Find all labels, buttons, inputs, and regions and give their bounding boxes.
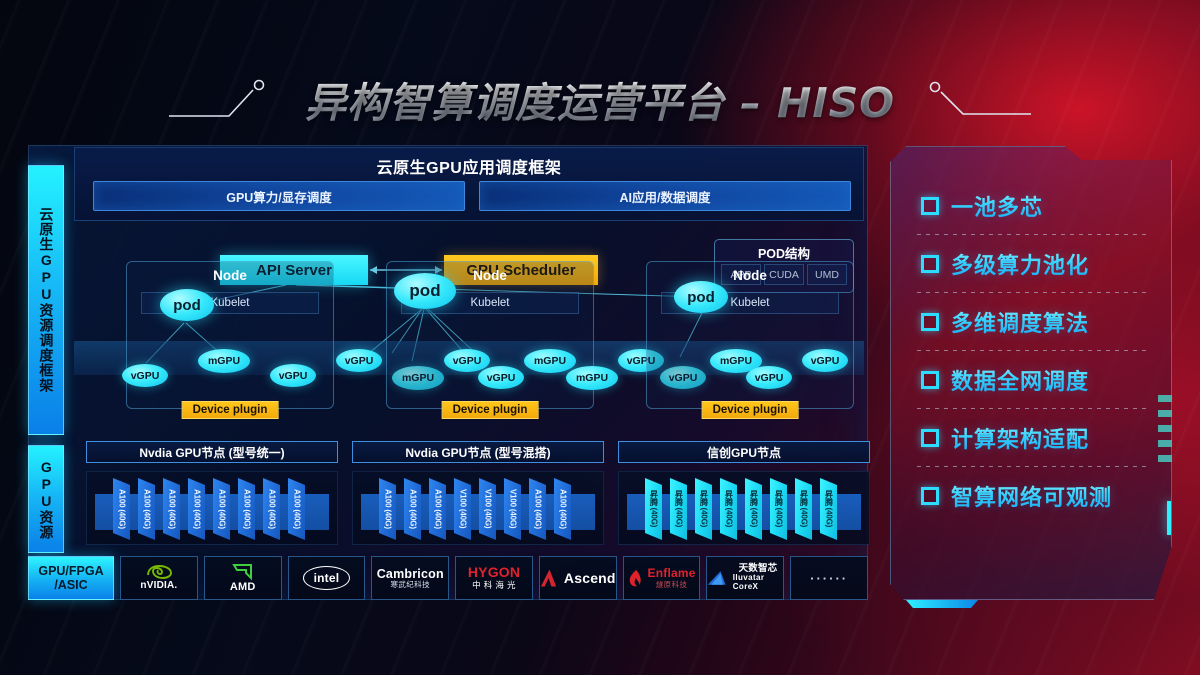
feature-highlights-panel: 一池多芯多级算力池化多维调度算法数据全网调度计算架构适配智算网络可观测 <box>890 146 1172 600</box>
gpu-card-list-1: A100 (40G)A100 (40G)A100 (40G)A100 (40G)… <box>87 478 337 545</box>
gpu-card-label: A100 (40G) <box>243 489 251 529</box>
gpu-card[interactable]: A100 (40G) <box>404 478 421 540</box>
gpu-card[interactable]: 昇腾 (40G) <box>820 478 837 540</box>
pod-node-2[interactable]: pod <box>394 273 456 309</box>
architecture-panel: 云原生GPU资源调度框架 GPU资源 云原生GPU应用调度框架 GPU算力/显存… <box>28 145 868 600</box>
side-tab-scheduling-framework-label: 云原生GPU资源调度框架 <box>39 207 54 393</box>
feature-item-6[interactable]: 智算网络可观测 <box>891 467 1171 525</box>
gpu-card[interactable]: 昇腾 (40G) <box>720 478 737 540</box>
vendor-logo-hygon[interactable]: HYGON 中 科 海 光 <box>455 556 533 600</box>
panel-accent-stripes <box>1158 395 1172 469</box>
gpu-node-group-3-body: 昇腾 (40G)昇腾 (40G)昇腾 (40G)昇腾 (40G)昇腾 (40G)… <box>618 471 870 545</box>
gpu-card-label: A100 (40G) <box>384 489 392 529</box>
hygon-wordmark: HYGON <box>468 565 520 581</box>
feature-list: 一池多芯多级算力池化多维调度算法数据全网调度计算架构适配智算网络可观测 <box>891 177 1171 525</box>
gpu-card-label: A100 (40G) <box>168 489 176 529</box>
feature-item-label: 多级算力池化 <box>951 248 1089 280</box>
gpu-card[interactable]: 昇腾 (40G) <box>745 478 762 540</box>
pod-structure-title: POD结构 <box>715 243 853 262</box>
feature-item-2[interactable]: 多级算力池化 <box>891 235 1171 293</box>
feature-item-3[interactable]: 多维调度算法 <box>891 293 1171 351</box>
pod-node-3[interactable]: pod <box>674 281 728 313</box>
gpu-card-label: 昇腾 (40G) <box>800 490 808 527</box>
ascend-wordmark: Ascend <box>564 570 616 586</box>
side-tab-gpu-resource: GPU资源 <box>28 445 64 553</box>
feature-item-label: 多维调度算法 <box>951 306 1089 338</box>
gpu-card[interactable]: A100 (40G) <box>238 478 255 540</box>
vendor-logo-ascend[interactable]: Ascend <box>539 556 617 600</box>
intel-wordmark: intel <box>314 571 340 585</box>
node-box-1: Node Kubelet Device plugin <box>126 261 334 409</box>
gpu-card[interactable]: V100 (40G) <box>454 478 471 540</box>
node-3-title: Node <box>647 268 853 283</box>
gpu-card[interactable]: A100 (40G) <box>379 478 396 540</box>
vendor-bar-tab: GPU/FPGA/ASIC <box>28 556 114 600</box>
checkbox-square-icon <box>921 371 939 389</box>
gpu-card-label: A100 (40G) <box>268 489 276 529</box>
node-box-3: Node Kubelet Device plugin <box>646 261 854 409</box>
vendor-bar-tab-label: GPU/FPGA/ASIC <box>38 564 103 592</box>
gpu-card-label: 昇腾 (40G) <box>775 490 783 527</box>
gpu-card[interactable]: A100 (40G) <box>263 478 280 540</box>
gpu-card-label: V100 (40G) <box>484 489 492 528</box>
gpu-card-label: A100 (40G) <box>193 489 201 529</box>
gpu-chip-n3-vgpu-2[interactable]: vGPU <box>802 349 848 372</box>
gpu-card-label: A100 (40G) <box>118 489 126 529</box>
gpu-chip-n1-mgpu-1[interactable]: mGPU <box>198 349 250 373</box>
framework-bar-ai-app[interactable]: AI应用/数据调度 <box>479 181 851 211</box>
gpu-node-group-1: Nvdia GPU节点 (型号统一) A100 (40G)A100 (40G)A… <box>86 441 338 549</box>
gpu-card[interactable]: A100 (40G) <box>529 478 546 540</box>
nvidia-wordmark: nVIDIA. <box>140 580 177 591</box>
gpu-card-label: A100 (40G) <box>559 489 567 529</box>
enflame-flame-icon <box>628 569 643 588</box>
gpu-chip-n1-vgpu-1[interactable]: vGPU <box>122 364 168 387</box>
gpu-card-label: 昇腾 (40G) <box>725 490 733 527</box>
gpu-node-group-2-header: Nvdia GPU节点 (型号混搭) <box>352 441 604 463</box>
vendor-logo-iluvatar-corex[interactable]: 天数智芯 Iluvatar CoreX <box>706 556 784 600</box>
feature-item-label: 计算架构适配 <box>951 422 1089 454</box>
feature-item-1[interactable]: 一池多芯 <box>891 177 1171 235</box>
gpu-card-label: 昇腾 (40G) <box>675 490 683 527</box>
feature-item-label: 数据全网调度 <box>951 364 1089 396</box>
node-1-title: Node <box>127 268 333 283</box>
gpu-chip-n3-vgpu-1[interactable]: vGPU <box>746 366 792 389</box>
slide-title-bar: 异构智算调度运营平台 – HISO <box>0 60 1200 138</box>
gpu-card[interactable]: V100 (40G) <box>479 478 496 540</box>
gpu-chip-n1-vgpu-3[interactable]: vGPU <box>336 349 382 372</box>
checkbox-square-icon <box>921 313 939 331</box>
feature-item-4[interactable]: 数据全网调度 <box>891 351 1171 409</box>
title-decoration-left-icon <box>167 76 287 122</box>
gpu-card-label: A100 (40G) <box>143 489 151 529</box>
gpu-card[interactable]: A100 (40G) <box>138 478 155 540</box>
gpu-card-label: A100 (40G) <box>293 489 301 529</box>
vendor-logo-bar: GPU/FPGA/ASIC nVIDIA. AMD intel <box>28 556 868 600</box>
gpu-chip-n2-vgpu-2[interactable]: vGPU <box>478 366 524 389</box>
node-2-device-plugin[interactable]: Device plugin <box>442 401 539 419</box>
checkbox-square-icon <box>921 487 939 505</box>
side-tab-scheduling-framework: 云原生GPU资源调度框架 <box>28 165 64 435</box>
page-title: 异构智算调度运营平台 – HISO <box>305 69 895 129</box>
amd-wordmark: AMD <box>230 581 256 593</box>
cambricon-sub: 寒武纪科技 <box>390 581 430 589</box>
checkbox-square-icon <box>921 197 939 215</box>
gpu-card-label: 昇腾 (40G) <box>825 490 833 527</box>
gpu-card[interactable]: A100 (40G) <box>213 478 230 540</box>
gpu-node-group-3: 信创GPU节点 昇腾 (40G)昇腾 (40G)昇腾 (40G)昇腾 (40G)… <box>618 441 870 549</box>
cambricon-wordmark: Cambricon <box>377 567 444 581</box>
gpu-chip-n1-vgpu-2[interactable]: vGPU <box>270 364 316 387</box>
feature-item-label: 智算网络可观测 <box>951 480 1112 512</box>
framework-band: 云原生GPU应用调度框架 GPU算力/显存调度 AI应用/数据调度 <box>74 147 864 221</box>
gpu-card-label: 昇腾 (40G) <box>750 490 758 527</box>
amd-arrow-icon <box>232 563 254 581</box>
gpu-card[interactable]: A100 (40G) <box>429 478 446 540</box>
panel-corner-accent <box>1167 501 1171 535</box>
vendor-logo-more[interactable]: ······ <box>790 556 868 600</box>
gpu-card[interactable]: 昇腾 (40G) <box>795 478 812 540</box>
gpu-resource-row: Nvdia GPU节点 (型号统一) A100 (40G)A100 (40G)A… <box>74 441 864 549</box>
gpu-card[interactable]: A100 (40G) <box>113 478 130 540</box>
gpu-card-list-3: 昇腾 (40G)昇腾 (40G)昇腾 (40G)昇腾 (40G)昇腾 (40G)… <box>619 478 869 545</box>
node-1-device-plugin[interactable]: Device plugin <box>182 401 279 419</box>
gpu-card-label: A100 (40G) <box>434 489 442 529</box>
vendor-logo-nvidia[interactable]: nVIDIA. <box>120 556 198 600</box>
vendor-logo-amd[interactable]: AMD <box>204 556 282 600</box>
gpu-card-label: A100 (40G) <box>409 489 417 529</box>
gpu-card-label: V100 (40G) <box>459 489 467 528</box>
panel-bottom-accent-bar <box>906 600 978 608</box>
pod-node-1[interactable]: pod <box>160 289 214 321</box>
iluvatar-fan-icon <box>707 569 727 587</box>
gpu-card-label: A100 (40G) <box>218 489 226 529</box>
gpu-card-label: 昇腾 (40G) <box>700 490 708 527</box>
gpu-card-label: V100 (40G) <box>509 489 517 528</box>
enflame-sub: 燧原科技 <box>656 581 688 589</box>
vendor-logo-cambricon[interactable]: Cambricon 寒武纪科技 <box>371 556 449 600</box>
gpu-card[interactable]: 昇腾 (40G) <box>695 478 712 540</box>
framework-bar-gpu-compute[interactable]: GPU算力/显存调度 <box>93 181 465 211</box>
gpu-card-label: 昇腾 (40G) <box>650 490 658 527</box>
framework-title: 云原生GPU应用调度框架 <box>75 154 863 178</box>
gpu-card[interactable]: A100 (40G) <box>188 478 205 540</box>
gpu-chip-n2-mgpu-2[interactable]: mGPU <box>566 366 618 390</box>
gpu-card[interactable]: 昇腾 (40G) <box>770 478 787 540</box>
gpu-card[interactable]: A100 (40G) <box>163 478 180 540</box>
scheduling-canvas: API Server GPU Scheduler POD结构 APP CUDA … <box>74 227 864 431</box>
architecture-inner: 云原生GPU应用调度框架 GPU算力/显存调度 AI应用/数据调度 <box>74 145 864 600</box>
gpu-node-group-1-header: Nvdia GPU节点 (型号统一) <box>86 441 338 463</box>
title-decoration-right-icon <box>913 76 1033 122</box>
gpu-chip-n2-vgpu-1[interactable]: vGPU <box>444 349 490 372</box>
node-3-device-plugin[interactable]: Device plugin <box>702 401 799 419</box>
gpu-chip-n2-mgpu-1[interactable]: mGPU <box>524 349 576 373</box>
vendor-logo-enflame[interactable]: Enflame 燧原科技 <box>623 556 701 600</box>
gpu-card-list-2: A100 (40G)A100 (40G)A100 (40G)V100 (40G)… <box>353 478 603 545</box>
hygon-sub: 中 科 海 光 <box>472 581 516 591</box>
iluvatar-en-name: Iluvatar CoreX <box>733 574 784 592</box>
slide-canvas: 异构智算调度运营平台 – HISO 云原生GPU资源调度框架 GPU资源 云原生… <box>0 0 1200 675</box>
ascend-mark-icon <box>540 568 559 588</box>
gpu-card[interactable]: 昇腾 (40G) <box>645 478 662 540</box>
checkbox-square-icon <box>921 429 939 447</box>
gpu-card[interactable]: 昇腾 (40G) <box>670 478 687 540</box>
gpu-node-group-3-header: 信创GPU节点 <box>618 441 870 463</box>
gpu-node-group-2-body: A100 (40G)A100 (40G)A100 (40G)V100 (40G)… <box>352 471 604 545</box>
more-vendors-ellipsis: ······ <box>810 571 848 586</box>
feature-item-5[interactable]: 计算架构适配 <box>891 409 1171 467</box>
gpu-card[interactable]: V100 (40G) <box>504 478 521 540</box>
checkbox-square-icon <box>921 255 939 273</box>
enflame-wordmark: Enflame <box>648 567 696 580</box>
gpu-card[interactable]: A100 (40G) <box>288 478 305 540</box>
side-tab-gpu-resource-label: GPU资源 <box>39 459 54 540</box>
vendor-logo-intel[interactable]: intel <box>288 556 366 600</box>
feature-item-label: 一池多芯 <box>951 190 1043 222</box>
nvidia-eye-icon <box>144 564 174 580</box>
gpu-card[interactable]: A100 (40G) <box>554 478 571 540</box>
gpu-card-label: A100 (40G) <box>534 489 542 529</box>
gpu-node-group-2: Nvdia GPU节点 (型号混搭) A100 (40G)A100 (40G)A… <box>352 441 604 549</box>
gpu-node-group-1-body: A100 (40G)A100 (40G)A100 (40G)A100 (40G)… <box>86 471 338 545</box>
